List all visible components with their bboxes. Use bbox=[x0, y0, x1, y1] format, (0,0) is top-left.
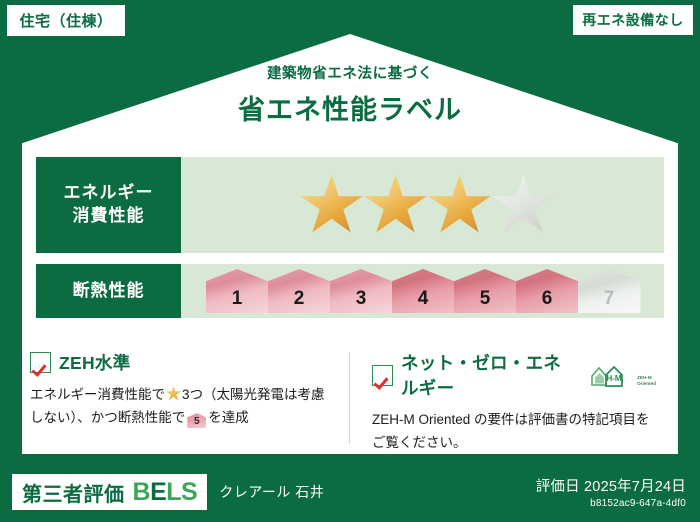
footer-meta: 評価日 2025年7月24日 b8152ac9-647a-4df0 bbox=[536, 475, 686, 509]
criteria-section: ZEH水準 エネルギー消費性能で3つ（太陽光発電は考慮しない）、かつ断熱性能で5… bbox=[30, 350, 670, 446]
zeh-m-logo-caption-line2: Oriented bbox=[637, 381, 656, 386]
title-subtitle: 建築物省エネ法に基づく bbox=[0, 62, 700, 83]
insulation-grade-badge: 7 bbox=[578, 269, 641, 313]
bels-letter-b: B bbox=[133, 478, 151, 506]
star-icon-3 bbox=[429, 175, 491, 235]
renewable-equipment-tag: 再エネ設備なし bbox=[572, 4, 694, 36]
check-icon-zeh bbox=[30, 352, 51, 373]
insulation-grade-badge: 3 bbox=[330, 269, 393, 313]
zeh-standard-title: ZEH水準 bbox=[59, 350, 131, 375]
net-zero-description: ZEH-M Oriented の要件は評価書の特記項目をご覧ください。 bbox=[372, 408, 656, 454]
star-icon-2 bbox=[365, 175, 427, 235]
svg-text:H-M: H-M bbox=[607, 374, 622, 383]
label-title-block: 建築物省エネ法に基づく 省エネ性能ラベル bbox=[0, 62, 700, 127]
insulation-grade-badge: 6 bbox=[516, 269, 579, 313]
energy-consumption-row: エネルギー 消費性能 bbox=[36, 157, 664, 253]
zeh-m-oriented-logo-icon: H-M ZEH-M Oriented bbox=[589, 362, 656, 388]
zeh-standard-description: エネルギー消費性能で3つ（太陽光発電は考慮しない）、かつ断熱性能で5を達成 bbox=[30, 383, 336, 429]
bels-certification-mark: 第三者評価 BELS bbox=[12, 474, 207, 510]
bels-letters-ls: LS bbox=[166, 478, 197, 506]
star-icon-1 bbox=[301, 175, 363, 235]
evaluation-date: 評価日 2025年7月24日 bbox=[536, 475, 686, 496]
insulation-grade-badge: 4 bbox=[392, 269, 455, 313]
energy-performance-label: 住宅（住棟） 再エネ設備なし 建築物省エネ法に基づく 省エネ性能ラベル エネルギ… bbox=[0, 0, 700, 522]
evaluator-name: クレアール 石井 bbox=[219, 482, 324, 502]
zeh-text-part3: を達成 bbox=[208, 410, 249, 425]
energy-label-line2: 消費性能 bbox=[73, 205, 145, 228]
star-icon-inline bbox=[166, 386, 181, 401]
building-type-tag: 住宅（住棟） bbox=[6, 4, 126, 37]
insulation-grade-badge-inline: 5 bbox=[187, 413, 206, 428]
bels-logo: BELS bbox=[133, 478, 198, 507]
zeh-text-part1: エネルギー消費性能で bbox=[30, 387, 165, 402]
net-zero-title: ネット・ゼロ・エネルギー bbox=[401, 350, 577, 400]
insulation-grade-badge: 1 bbox=[206, 269, 269, 313]
criteria-zeh-standard: ZEH水準 エネルギー消費性能で3つ（太陽光発電は考慮しない）、かつ断熱性能で5… bbox=[30, 350, 350, 446]
criteria-net-zero-energy: ネット・ゼロ・エネルギー H-M ZEH-M Oriented ZEH-M Or… bbox=[350, 350, 670, 446]
energy-label-line1: エネルギー bbox=[64, 182, 154, 205]
insulation-grade-scale: 1 2 3 4 5 6 7 bbox=[181, 264, 664, 318]
bels-letter-e: E bbox=[150, 478, 166, 506]
energy-consumption-label: エネルギー 消費性能 bbox=[36, 157, 181, 253]
page-title: 省エネ性能ラベル bbox=[0, 88, 700, 127]
insulation-performance-row: 断熱性能 1 2 3 4 5 6 7 bbox=[36, 264, 664, 318]
insulation-grade-badge: 5 bbox=[454, 269, 517, 313]
zeh-standard-header: ZEH水準 bbox=[30, 350, 336, 375]
star-icon-4 bbox=[493, 175, 555, 235]
footer-bar: 第三者評価 BELS クレアール 石井 評価日 2025年7月24日 b8152… bbox=[0, 462, 700, 522]
net-zero-header: ネット・ゼロ・エネルギー H-M ZEH-M Oriented bbox=[372, 350, 656, 400]
zeh-m-logo-caption-line1: ZEH-M bbox=[637, 375, 652, 380]
third-party-evaluation-label: 第三者評価 bbox=[22, 478, 125, 507]
insulation-performance-label: 断熱性能 bbox=[36, 264, 181, 318]
insulation-grade-badge: 2 bbox=[268, 269, 331, 313]
evaluation-id: b8152ac9-647a-4df0 bbox=[536, 498, 686, 509]
energy-star-rating bbox=[181, 157, 664, 253]
check-icon-net-zero bbox=[372, 365, 393, 386]
